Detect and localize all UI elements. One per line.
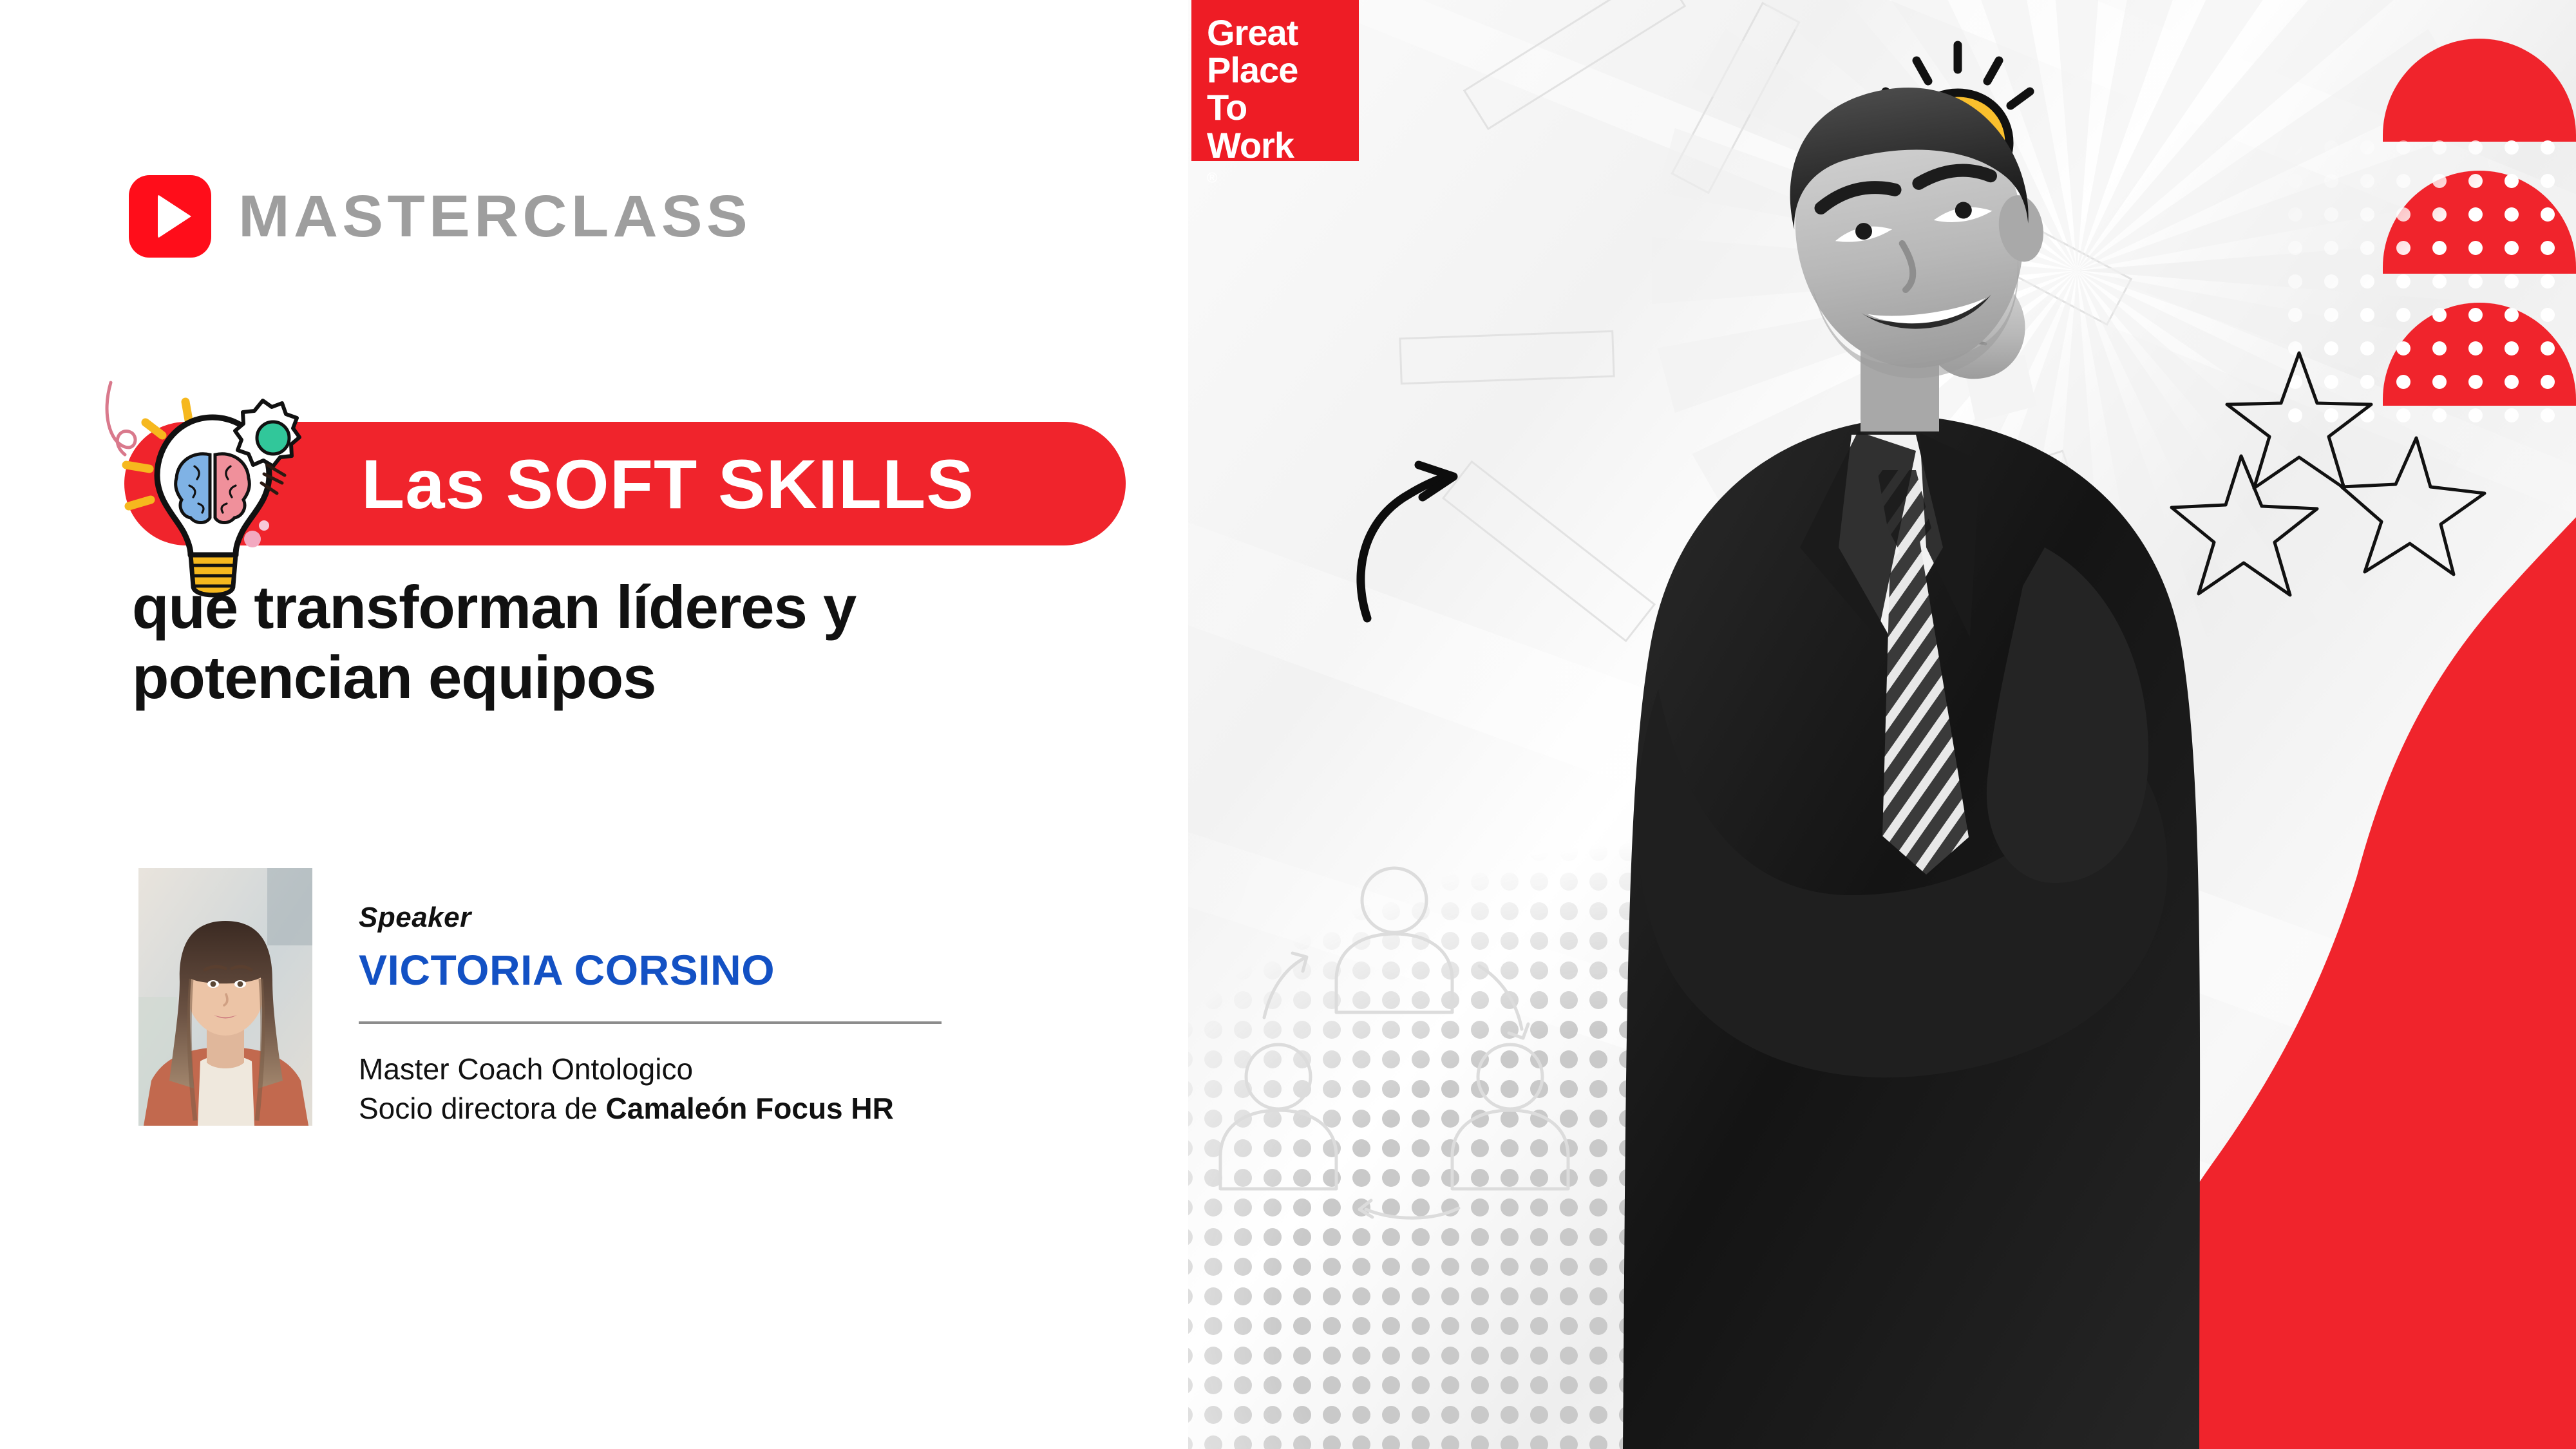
great-place-to-work-logo: Great Place To Work® <box>1191 0 1359 161</box>
right-visual-panel: Great Place To Work® <box>1188 0 2576 1449</box>
star-outline-icon <box>2342 438 2485 574</box>
title-text: Las SOFT SKILLS <box>361 444 974 524</box>
play-icon <box>129 175 211 258</box>
registered-trademark-icon: ® <box>1207 169 1217 185</box>
speaker-block: Speaker VICTORIA CORSINO Master Coach On… <box>138 868 1022 1128</box>
thinking-businessman-photo <box>1465 58 2315 1449</box>
masterclass-promo-banner: MASTERCLASS Las SOFT SKILLS <box>0 0 2576 1449</box>
speaker-role-label: Speaker <box>359 902 1022 934</box>
subtitle: que transforman líderes y potencian equi… <box>132 572 1098 712</box>
credential-company: Camaleón Focus HR <box>606 1092 894 1125</box>
divider-rule <box>359 1021 942 1024</box>
logo-line-3: To <box>1207 89 1359 126</box>
subtitle-line-2: potencian equipos <box>132 642 1098 712</box>
speaker-credentials: Master Coach Ontologico Socio directora … <box>359 1050 1022 1128</box>
masterclass-header: MASTERCLASS <box>129 175 732 258</box>
credential-line-2: Socio directora de Camaleón Focus HR <box>359 1089 1022 1128</box>
logo-line-4: Work® <box>1207 127 1359 202</box>
speaker-details: Speaker VICTORIA CORSINO Master Coach On… <box>359 868 1022 1128</box>
play-triangle-icon <box>158 194 191 238</box>
speaker-portrait <box>138 868 312 1126</box>
credential-prefix: Socio directora de <box>359 1092 606 1125</box>
person-outline-icon <box>1336 868 1452 1012</box>
logo-line-1: Great <box>1207 14 1359 52</box>
logo-word-work: Work <box>1207 127 1359 164</box>
speaker-name: VICTORIA CORSINO <box>359 945 1022 994</box>
masterclass-label: MASTERCLASS <box>238 183 752 251</box>
left-content-panel: MASTERCLASS Las SOFT SKILLS <box>0 0 1188 1449</box>
subtitle-line-1: que transforman líderes y <box>132 572 1098 642</box>
brain-lightbulb-icon <box>109 386 322 599</box>
credential-line-1: Master Coach Ontologico <box>359 1050 1022 1089</box>
person-outline-icon <box>1220 1045 1336 1189</box>
logo-line-2: Place <box>1207 52 1359 89</box>
